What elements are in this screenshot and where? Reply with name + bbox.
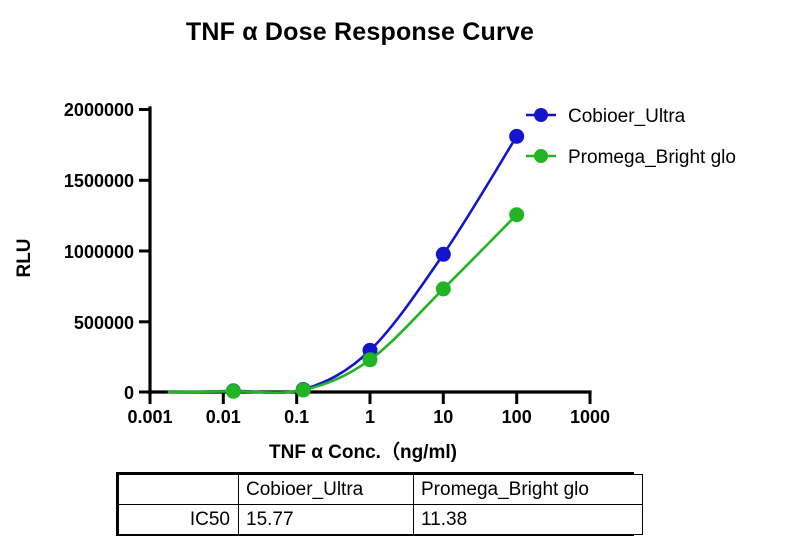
x-tick-label: 1 [365, 407, 375, 427]
table-header-cell-blank [119, 475, 239, 505]
table-header-row: Cobioer_Ultra Promega_Bright glo [119, 475, 643, 505]
figure-container: TNF α Dose Response Curve 2000000 150000… [0, 0, 796, 549]
x-tick-label: 1000 [570, 407, 610, 427]
y-axis-ticks [139, 110, 150, 393]
legend-entry-promega-bright-glo[interactable]: Promega_Bright glo [526, 147, 736, 168]
dose-response-chart: 2000000 1500000 1000000 500000 0 0.001 0… [0, 0, 796, 470]
y-tick-label: 1000000 [64, 242, 134, 262]
y-tick-label: 1500000 [64, 171, 134, 191]
legend-swatch-marker [534, 149, 548, 163]
x-tick-label: 10 [433, 407, 453, 427]
data-point [296, 383, 311, 398]
data-point [436, 247, 451, 262]
x-axis-ticks [150, 392, 590, 404]
table-row: IC50 15.77 11.38 [119, 505, 643, 535]
ic50-table: Cobioer_Ultra Promega_Bright glo IC50 15… [118, 474, 643, 535]
x-tick-label: 0.1 [284, 407, 309, 427]
legend-label: Cobioer_Ultra [568, 106, 686, 127]
x-tick-label: 0.001 [127, 407, 172, 427]
legend-entry-cobioer-ultra[interactable]: Cobioer_Ultra [526, 106, 686, 127]
table-cell-cobioer-ultra-ic50: 15.77 [239, 505, 414, 535]
series-line-cobioer-ultra [168, 136, 517, 392]
chart-legend: Cobioer_Ultra Promega_Bright glo [526, 106, 736, 168]
data-point [363, 352, 378, 367]
table-cell-promega-bright-glo-ic50: 11.38 [414, 505, 643, 535]
series-line-promega-bright-glo [168, 215, 517, 393]
y-tick-label: 500000 [74, 313, 134, 333]
legend-label: Promega_Bright glo [568, 147, 736, 168]
y-axis-tick-labels: 2000000 1500000 1000000 500000 0 [64, 100, 134, 403]
legend-swatch-marker [534, 108, 548, 122]
series-layer [168, 129, 524, 399]
x-tick-label: 100 [502, 407, 532, 427]
y-axis-title: RLU [14, 238, 35, 277]
data-point [509, 207, 524, 222]
x-axis-title: TNF α Conc.（ng/ml) [269, 440, 457, 463]
data-point [436, 281, 451, 296]
y-tick-label: 2000000 [64, 100, 134, 120]
data-point [226, 384, 241, 399]
data-point [509, 129, 524, 144]
table-row-label: IC50 [119, 505, 239, 535]
table-header-cell-promega-bright-glo: Promega_Bright glo [414, 475, 643, 505]
table-header-cell-cobioer-ultra: Cobioer_Ultra [239, 475, 414, 505]
x-axis-tick-labels: 0.001 0.01 0.1 1 10 100 1000 [127, 407, 610, 427]
x-tick-label: 0.01 [206, 407, 241, 427]
y-tick-label: 0 [124, 383, 134, 403]
